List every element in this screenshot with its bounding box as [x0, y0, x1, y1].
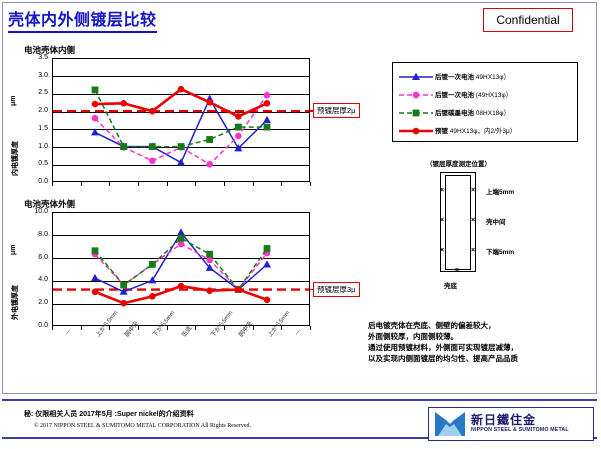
- data-point-marker: [206, 251, 213, 258]
- conclusion-text: 后电镀壳体在壳底、侧壁的偏差较大，外面侧较厚，内面侧较薄。通过使用预镀材料，外侧…: [368, 320, 594, 364]
- data-point-marker: [92, 247, 99, 254]
- data-point-marker: [263, 260, 271, 267]
- can-inner-outline-shape: [445, 175, 471, 270]
- legend-item-3: 预镀 49HX13φ，内2/外3μ）: [397, 121, 577, 139]
- legend-item-label: 后镀碳墨电池 08HX18φ）: [435, 107, 510, 117]
- measurement-point-marker: ×: [440, 187, 444, 194]
- legend-symbol-icon: [397, 106, 435, 118]
- legend-series-code: (49HX13φ）: [474, 92, 512, 99]
- legend-series-code: 08HX18φ）: [474, 110, 510, 117]
- legend-symbol-icon: [397, 124, 435, 136]
- legend-series-name: 预镀: [435, 128, 448, 135]
- diagram-position-label: 上端5mm: [486, 186, 514, 196]
- data-point-marker: [120, 282, 127, 289]
- data-point-marker: [206, 287, 213, 294]
- data-point-marker: [149, 261, 156, 268]
- legend-item-1: 后镀一次电池 (49HX13φ）: [397, 85, 577, 103]
- measurement-point-marker: ×: [471, 217, 475, 224]
- measurement-point-marker: ×: [440, 247, 444, 254]
- data-point-marker: [413, 92, 420, 99]
- footer-copyright: © 2017 NIPPON STEEL & SUMITOMO METAL COR…: [34, 423, 251, 429]
- data-point-marker: [120, 300, 127, 307]
- data-point-marker: [264, 296, 271, 303]
- measurement-position-diagram: （镀层厚度测定位置） ××上端5mm××壳中间××下端5mm×壳底: [418, 158, 578, 310]
- measurement-point-marker: ×: [471, 187, 475, 194]
- nippon-steel-logo-icon: [435, 412, 465, 436]
- data-point-marker: [264, 245, 271, 252]
- diagram-bottom-label: 壳底: [444, 280, 457, 290]
- legend-series-code: 49HX13φ）: [474, 74, 510, 81]
- data-point-marker: [92, 289, 99, 296]
- diagram-position-label: 壳中间: [486, 216, 506, 226]
- legend-series-name: 后镀一次电池: [435, 92, 474, 99]
- legend-item-label: 后镀一次电池 49HX13φ）: [435, 71, 510, 81]
- data-point-marker: [149, 293, 156, 300]
- legend-item-2: 后镀碳墨电池 08HX18φ）: [397, 103, 577, 121]
- legend-series-name: 后镀一次电池: [435, 74, 474, 81]
- diagram-position-label: 下端5mm: [486, 246, 514, 256]
- threshold-callout-label: 预镀层厚3μ: [313, 282, 360, 297]
- data-point-marker: [413, 110, 420, 117]
- data-point-marker: [178, 283, 185, 290]
- footer-top-rule: [2, 399, 597, 401]
- measurement-point-marker: ×: [471, 247, 475, 254]
- conclusion-line-1: 外面侧较厚，内面侧较薄。: [368, 331, 594, 342]
- legend-item-0: 后镀一次电池 49HX13φ）: [397, 67, 577, 85]
- chart-legend: 后镀一次电池 49HX13φ）后镀一次电池 (49HX13φ）后镀碳墨电池 08…: [392, 62, 578, 142]
- legend-item-label: 后镀一次电池 (49HX13φ）: [435, 89, 512, 99]
- legend-item-label: 预镀 49HX13φ，内2/外3μ）: [435, 125, 516, 135]
- conclusion-line-2: 通过使用预镀材料，外侧面可实现镀层减薄，: [368, 342, 594, 353]
- logo-text-block: 新日鐵住金 NIPPON STEEL & SUMITOMO METAL: [471, 414, 569, 434]
- data-point-marker: [148, 276, 156, 283]
- legend-symbol-icon: [397, 70, 435, 82]
- legend-series-name: 后镀碳墨电池: [435, 110, 474, 117]
- logo-japanese-name: 新日鐵住金: [471, 414, 569, 427]
- logo-english-name: NIPPON STEEL & SUMITOMO METAL: [471, 427, 569, 434]
- company-logo: 新日鐵住金 NIPPON STEEL & SUMITOMO METAL: [428, 407, 594, 441]
- conclusion-line-3: 以及实现内侧面镀层的均匀性、提高产品品质: [368, 353, 594, 364]
- measurement-point-marker-bottom: ×: [455, 267, 459, 274]
- footer-note: 秘: 仅限相关人员 2017年5月 :Super nickel的介绍资料: [24, 409, 194, 419]
- measurement-point-marker: ×: [440, 217, 444, 224]
- data-point-marker: [178, 235, 185, 242]
- data-point-marker: [177, 228, 185, 235]
- data-point-marker: [91, 274, 99, 281]
- legend-series-code: 49HX13φ，内2/外3μ）: [448, 128, 516, 135]
- conclusion-line-0: 后电镀壳体在壳底、侧壁的偏差较大，: [368, 320, 594, 331]
- data-point-marker: [413, 128, 420, 135]
- legend-symbol-icon: [397, 88, 435, 100]
- data-point-marker: [235, 286, 242, 293]
- diagram-title: （镀层厚度测定位置）: [426, 158, 491, 168]
